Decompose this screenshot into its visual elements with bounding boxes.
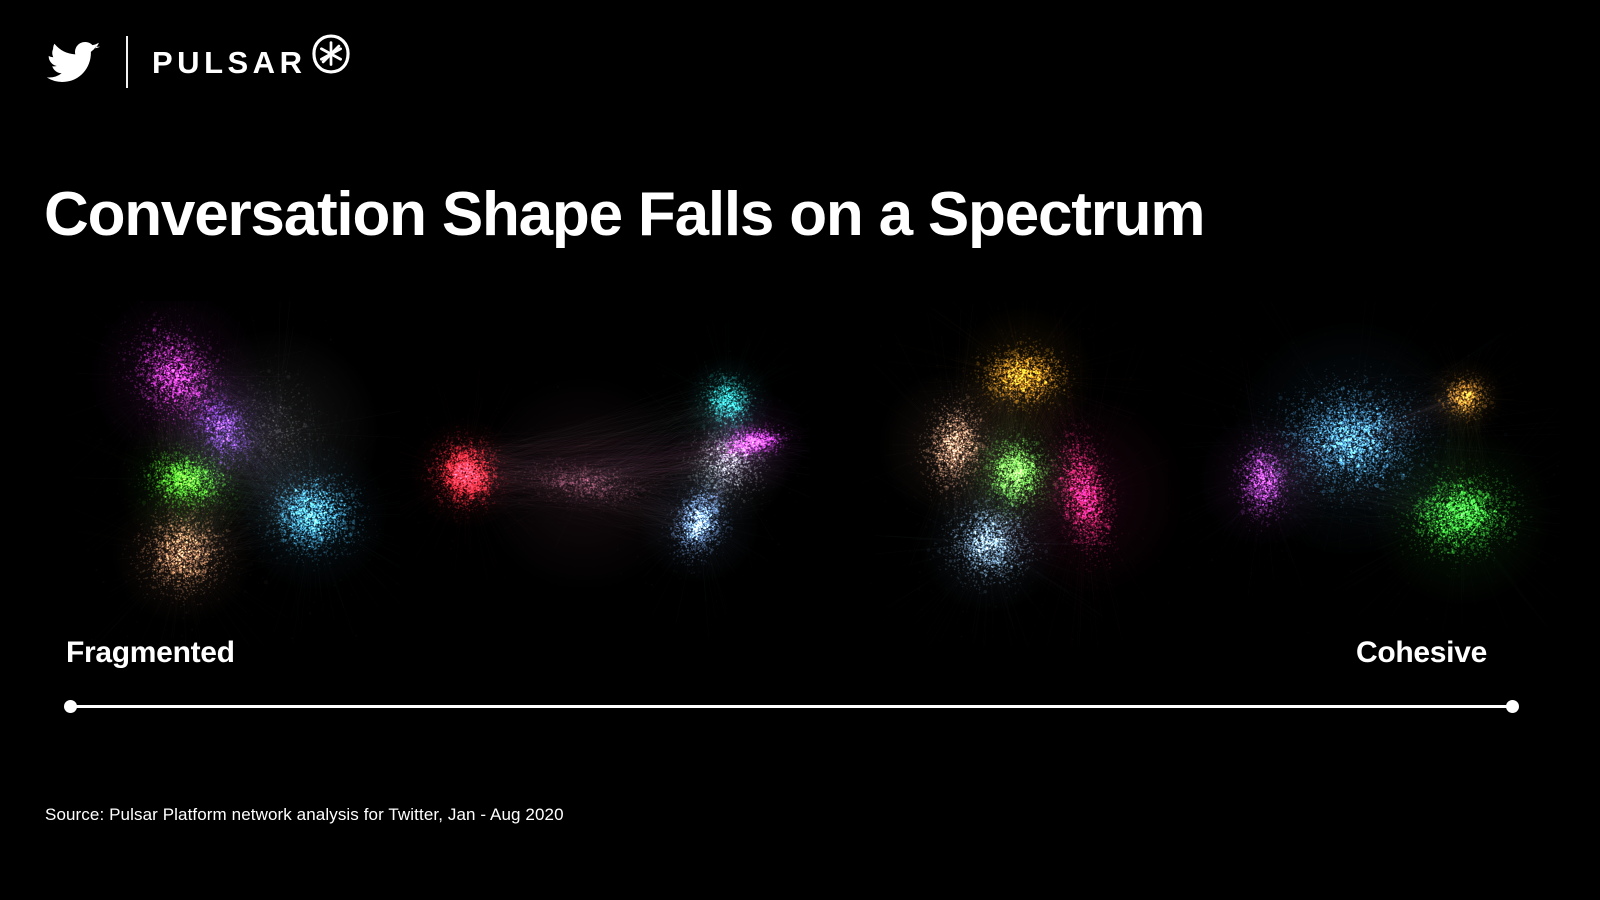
- brand-bar: PULSAR: [44, 33, 352, 91]
- spectrum-line: [70, 705, 1513, 708]
- spectrum-labels: Fragmented Cohesive: [66, 636, 1487, 670]
- spectrum-axis: [70, 705, 1513, 708]
- spectrum-axis-group: Fragmented Cohesive: [0, 636, 1600, 726]
- network-visualisation-strip: [0, 285, 1600, 630]
- network-graph-cohesive: [1180, 301, 1560, 646]
- brand-divider: [126, 36, 128, 88]
- spectrum-endpoint-right-dot: [1506, 700, 1519, 713]
- network-graph-fragmented: [68, 301, 428, 646]
- spectrum-label-right: Cohesive: [1356, 636, 1487, 670]
- pulsar-asterisk-icon: [306, 49, 352, 75]
- source-note: Source: Pulsar Platform network analysis…: [45, 805, 564, 825]
- pulsar-wordmark: PULSAR: [152, 47, 306, 78]
- network-graph-polarised: [400, 301, 810, 646]
- spectrum-endpoint-left-dot: [64, 700, 77, 713]
- page-title: Conversation Shape Falls on a Spectrum: [44, 182, 1204, 249]
- spectrum-label-left: Fragmented: [66, 636, 235, 670]
- twitter-bird-icon: [44, 36, 106, 88]
- network-graph-community-blob: [860, 301, 1200, 646]
